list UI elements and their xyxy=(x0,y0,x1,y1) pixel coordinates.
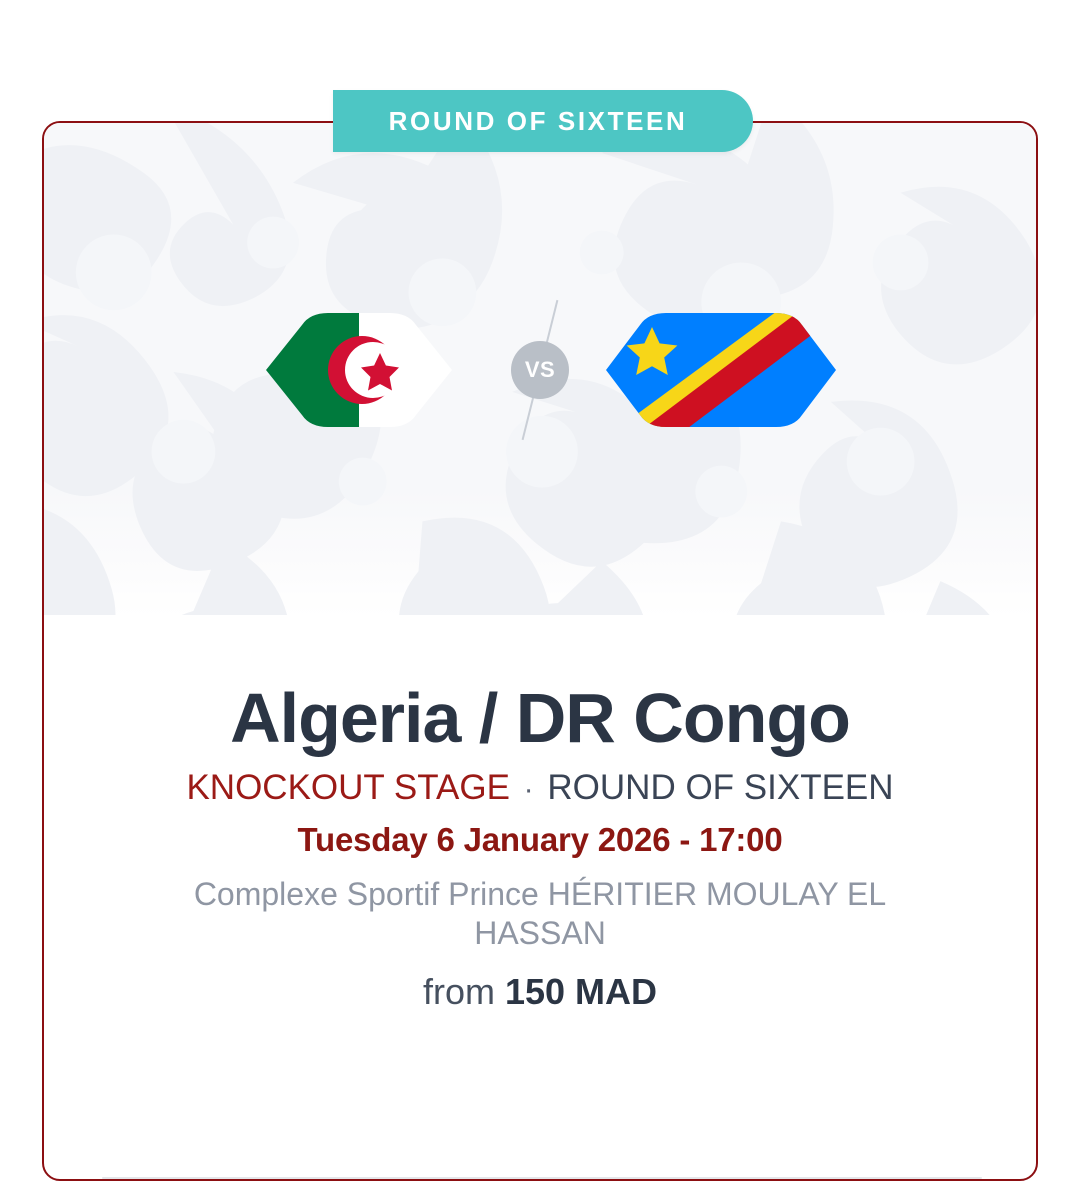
round-ribbon-label: ROUND OF SIXTEEN xyxy=(389,106,698,137)
match-title: Algeria / DR Congo xyxy=(78,681,1002,757)
match-price: from 150 MAD xyxy=(78,971,1002,1013)
flag-algeria-icon xyxy=(266,303,452,437)
section-divider xyxy=(102,1177,982,1179)
team-away-flag xyxy=(592,297,850,443)
flag-dr-congo-icon xyxy=(606,303,836,437)
stage-label: KNOCKOUT STAGE xyxy=(186,768,509,807)
round-label: ROUND OF SIXTEEN xyxy=(547,768,893,807)
round-ribbon: ROUND OF SIXTEEN xyxy=(333,90,753,152)
price-value: 150 MAD xyxy=(505,971,657,1012)
match-datetime: Tuesday 6 January 2026 - 17:00 xyxy=(78,821,1002,859)
matchup-row: VS xyxy=(44,123,1036,617)
team-home-flag xyxy=(230,297,488,443)
match-info: Algeria / DR Congo KNOCKOUT STAGE · ROUN… xyxy=(44,617,1036,1013)
versus-label: VS xyxy=(525,357,555,383)
versus-badge: VS xyxy=(511,341,569,399)
versus-indicator: VS xyxy=(488,295,592,445)
stage-separator: · xyxy=(520,773,538,806)
match-venue: Complexe Sportif Prince HÉRITIER MOULAY … xyxy=(78,875,1002,953)
stage-line: KNOCKOUT STAGE · ROUND OF SIXTEEN xyxy=(78,769,1002,808)
price-prefix: from xyxy=(423,971,495,1012)
match-card[interactable]: VS Algeria / DR Congo xyxy=(42,121,1038,1181)
